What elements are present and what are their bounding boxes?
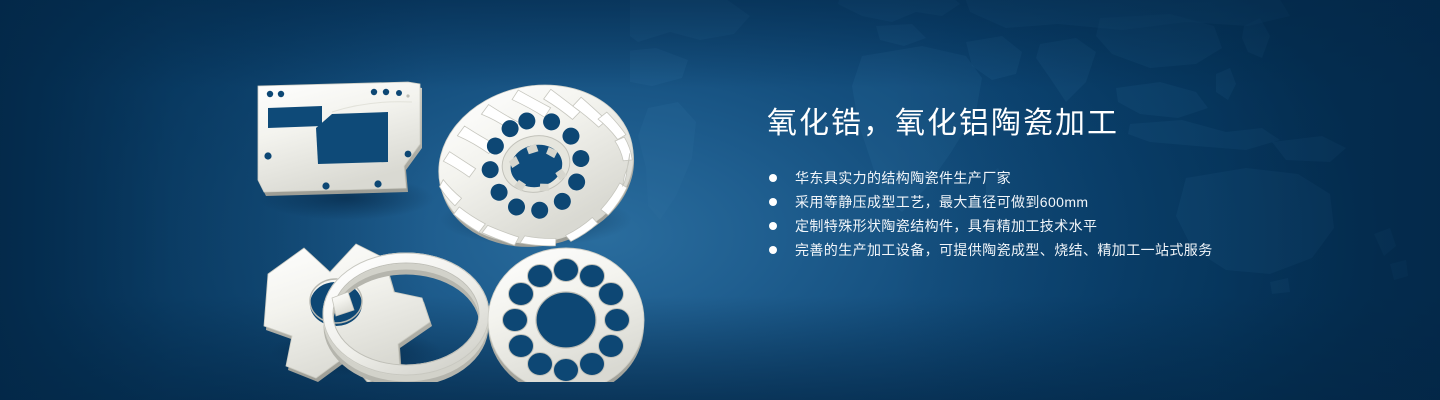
feature-list: 华东具实力的结构陶瓷件生产厂家 采用等静压成型工艺，最大直径可做到600mm 定…	[767, 166, 1387, 262]
bullet-dot-icon	[769, 198, 777, 206]
ceramic-impeller-part	[423, 67, 649, 266]
feature-text: 完善的生产加工设备，可提供陶瓷成型、烧结、精加工一站式服务	[795, 242, 1213, 258]
bullet-dot-icon	[769, 222, 777, 230]
feature-list-item: 完善的生产加工设备，可提供陶瓷成型、烧结、精加工一站式服务	[767, 238, 1387, 262]
feature-list-item: 定制特殊形状陶瓷结构件，具有精加工技术水平	[767, 214, 1387, 238]
banner-headline: 氧化锆，氧化铝陶瓷加工	[767, 104, 1387, 144]
product-photo-group	[236, 52, 676, 382]
banner-copy: 氧化锆，氧化铝陶瓷加工 华东具实力的结构陶瓷件生产厂家 采用等静压成型工艺，最大…	[767, 104, 1387, 262]
feature-text: 华东具实力的结构陶瓷件生产厂家	[795, 170, 1011, 186]
ceramic-perforated-disc-part	[488, 248, 644, 382]
hero-banner: 氧化锆，氧化铝陶瓷加工 华东具实力的结构陶瓷件生产厂家 采用等静压成型工艺，最大…	[0, 0, 1440, 400]
feature-text: 定制特殊形状陶瓷结构件，具有精加工技术水平	[795, 218, 1097, 234]
bullet-dot-icon	[769, 174, 777, 182]
feature-list-item: 采用等静压成型工艺，最大直径可做到600mm	[767, 190, 1387, 214]
feature-text: 采用等静压成型工艺，最大直径可做到600mm	[795, 194, 1088, 210]
feature-list-item: 华东具实力的结构陶瓷件生产厂家	[767, 166, 1387, 190]
ceramic-plate-part	[258, 82, 422, 196]
bullet-dot-icon	[769, 246, 777, 254]
